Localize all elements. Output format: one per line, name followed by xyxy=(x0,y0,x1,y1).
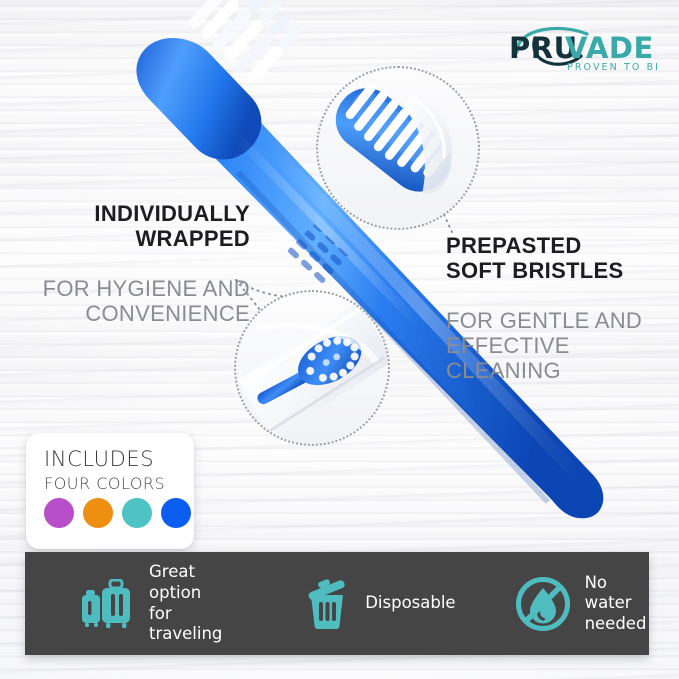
feature-label-disposable: Disposable xyxy=(365,593,455,614)
feature-great-for-traveling: Great option for traveling xyxy=(80,562,240,645)
color-swatch-purple xyxy=(44,498,74,528)
no-water-icon xyxy=(514,575,572,633)
callout-right-subline: FOR GENTLE AND EFFECTIVE CLEANING xyxy=(446,308,676,383)
callout-left-subline: FOR HYGIENE AND CONVENIENCE xyxy=(40,276,250,326)
callout-individually-wrapped: INDIVIDUALLY WRAPPED FOR HYGIENE AND CON… xyxy=(40,176,250,352)
trash-icon xyxy=(302,579,352,629)
includes-subtitle: FOUR COLORS xyxy=(44,474,165,493)
feature-label-no-water: No water needed xyxy=(585,573,649,635)
callout-right-headline: PREPASTED SOFT BRISTLES xyxy=(446,233,676,283)
color-swatch-blue xyxy=(161,498,191,528)
color-swatch-teal xyxy=(122,498,152,528)
inset-bristle-closeup xyxy=(318,68,478,228)
color-swatch-orange xyxy=(83,498,113,528)
callout-prepasted-soft-bristles: PREPASTED SOFT BRISTLES FOR GENTLE AND E… xyxy=(446,208,676,409)
includes-title: INCLUDES xyxy=(44,447,154,471)
luggage-icon xyxy=(80,579,136,629)
feature-no-water-needed: No water needed xyxy=(514,573,649,635)
feature-bar: Great option for traveling xyxy=(25,552,649,655)
feature-label-traveling: Great option for traveling xyxy=(149,562,240,645)
includes-colors-card: INCLUDES FOUR COLORS xyxy=(26,433,194,549)
inset-wrapped-brush xyxy=(236,292,388,444)
feature-disposable: Disposable xyxy=(302,579,455,629)
color-swatch-list xyxy=(44,498,191,528)
product-infographic: PRU VADE PROVEN TO BE xyxy=(0,0,679,679)
callout-left-headline: INDIVIDUALLY WRAPPED xyxy=(40,201,250,251)
